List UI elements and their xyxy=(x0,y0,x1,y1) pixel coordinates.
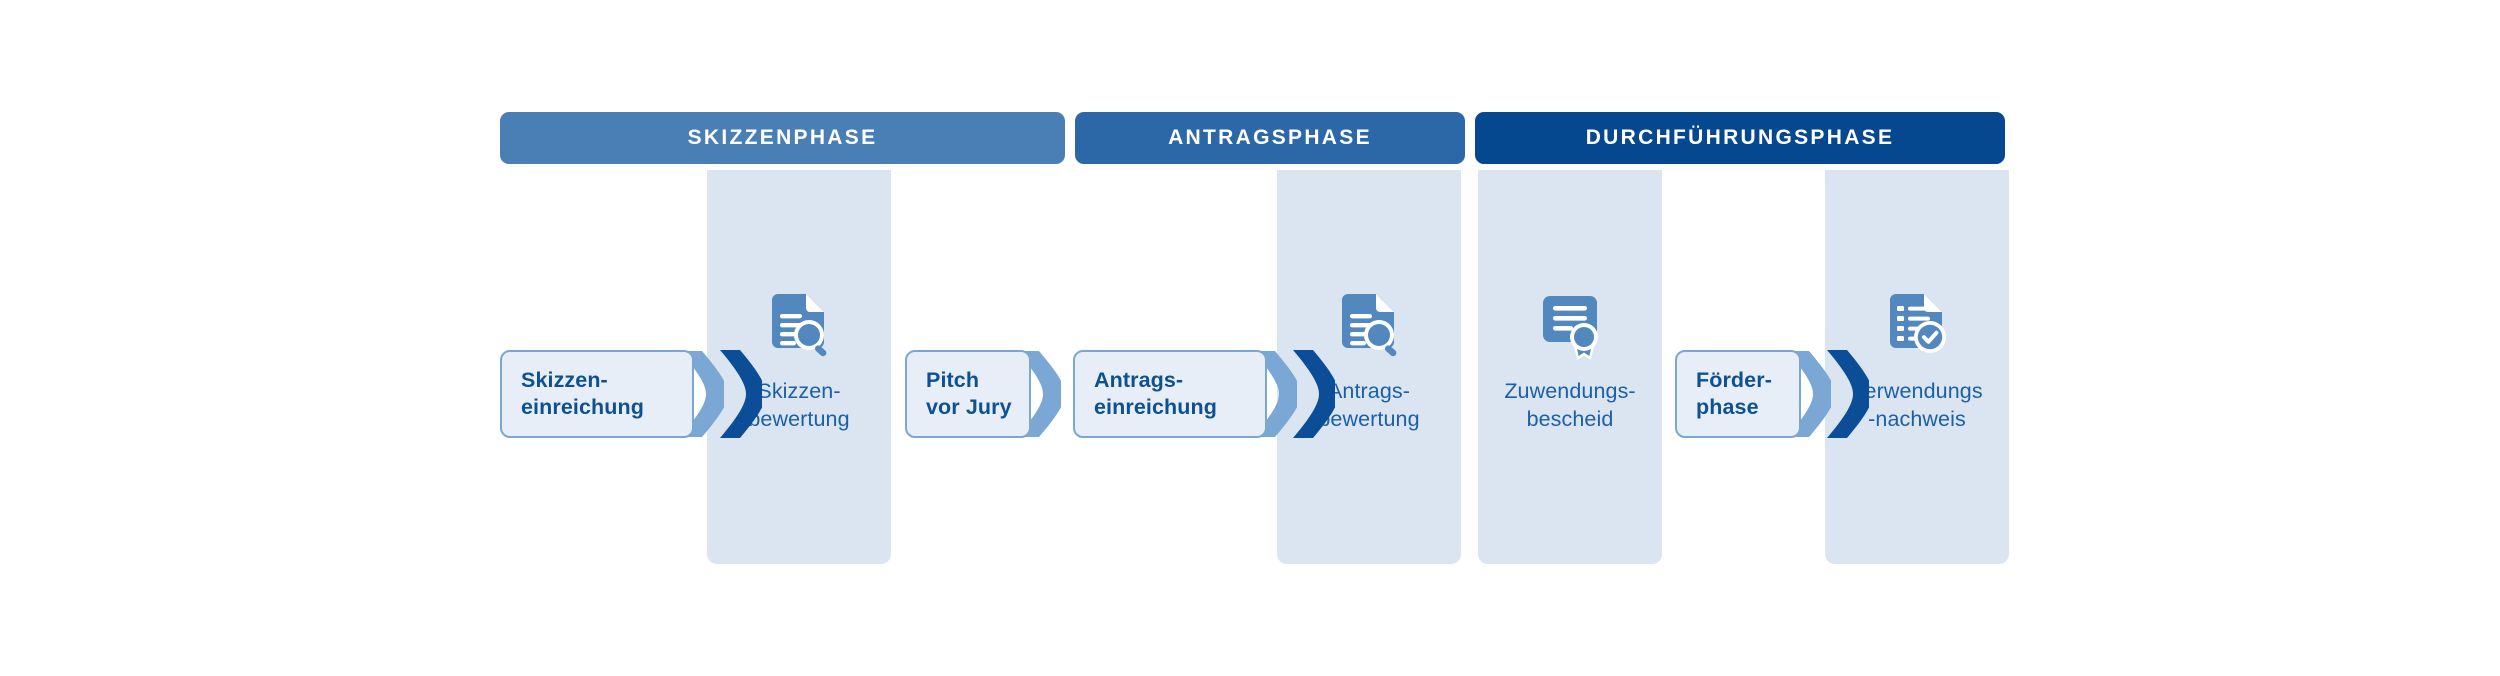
stage-pill-body[interactable]: Antrags- einreichung xyxy=(1073,350,1267,438)
phase-header-label: ANTRAGSPHASE xyxy=(1168,126,1372,150)
stage-pill-body[interactable]: Pitch vor Jury xyxy=(905,350,1031,438)
stage-pill-body[interactable]: Skizzen- einreichung xyxy=(500,350,694,438)
phase-header-label: DURCHFÜHRUNGSPHASE xyxy=(1586,126,1895,150)
chevron-dark-icon xyxy=(1825,350,1869,438)
stage-label: Skizzen- einreichung xyxy=(521,367,644,422)
stage-foerderphase[interactable]: Förder- phase xyxy=(1675,350,1875,438)
phase-header-label: SKIZZENPHASE xyxy=(688,126,878,150)
stage-label: Förder- phase xyxy=(1696,367,1772,422)
stage-skizzeneinreichung[interactable]: Skizzen- einreichung xyxy=(500,350,762,438)
chevron-dark-icon xyxy=(1291,350,1335,438)
stage-label: Pitch vor Jury xyxy=(926,367,1012,422)
task-zuwendungsbescheid: Zuwendungs- bescheid xyxy=(1478,290,1662,434)
phase-header-skizzenphase: SKIZZENPHASE xyxy=(500,112,1065,164)
process-flow-diagram: SKIZZENPHASE ANTRAGSPHASE DURCHFÜHRUNGSP… xyxy=(0,0,2500,676)
stage-label: Antrags- einreichung xyxy=(1094,367,1217,422)
certificate-seal-icon xyxy=(1478,290,1662,362)
stage-pitch-vor-jury[interactable]: Pitch vor Jury xyxy=(905,350,1081,438)
stage-pill-body[interactable]: Förder- phase xyxy=(1675,350,1801,438)
stage-antragseinreichung[interactable]: Antrags- einreichung xyxy=(1073,350,1335,438)
phase-header-durchfuehrungsphase: DURCHFÜHRUNGSPHASE xyxy=(1475,112,2005,164)
phase-header-antragsphase: ANTRAGSPHASE xyxy=(1075,112,1465,164)
task-label: Zuwendungs- bescheid xyxy=(1478,378,1662,434)
chevron-dark-icon xyxy=(718,350,762,438)
